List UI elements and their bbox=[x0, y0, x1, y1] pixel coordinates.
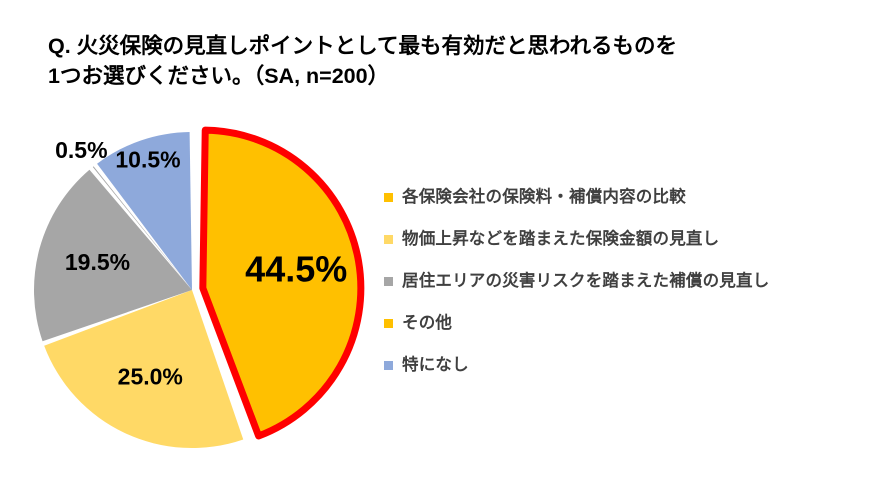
legend-item-label: 居住エリアの災害リスクを踏まえた補償の見直し bbox=[402, 273, 769, 290]
legend-color-swatch bbox=[384, 235, 393, 244]
legend-item[interactable]: 特になし bbox=[384, 344, 880, 386]
legend-color-swatch bbox=[384, 319, 393, 328]
legend-color-swatch bbox=[384, 361, 393, 370]
legend-item-label: その他 bbox=[402, 315, 452, 332]
legend-color-swatch bbox=[384, 277, 393, 286]
title-line-2: 1つお選びください。（SA, n=200） bbox=[48, 62, 838, 92]
legend-color-swatch bbox=[384, 193, 393, 202]
chart-legend: 各保険会社の保険料・補償内容の比較物価上昇などを踏まえた保険金額の見直し居住エリ… bbox=[384, 176, 880, 386]
pie-chart: 44.5%25.0%19.5%0.5%10.5% bbox=[14, 104, 386, 474]
pie-slice-label: 0.5% bbox=[55, 137, 107, 163]
pie-slice-label: 25.0% bbox=[118, 364, 183, 390]
page-title: Q. 火災保険の見直しポイントとして最も有効だと思われるものを 1つお選びくださ… bbox=[48, 32, 838, 91]
legend-item-label: 特になし bbox=[402, 357, 469, 374]
legend-item[interactable]: 各保険会社の保険料・補償内容の比較 bbox=[384, 176, 880, 218]
legend-item[interactable]: 居住エリアの災害リスクを踏まえた補償の見直し bbox=[384, 260, 880, 302]
legend-item-label: 各保険会社の保険料・補償内容の比較 bbox=[402, 189, 686, 206]
slide-canvas: Q. 火災保険の見直しポイントとして最も有効だと思われるものを 1つお選びくださ… bbox=[0, 0, 880, 482]
pie-slice-label: 44.5% bbox=[245, 248, 347, 289]
title-line-1: Q. 火災保険の見直しポイントとして最も有効だと思われるものを bbox=[48, 32, 838, 62]
pie-chart-svg: 44.5%25.0%19.5%0.5%10.5% bbox=[14, 104, 386, 474]
legend-item-label: 物価上昇などを踏まえた保険金額の見直し bbox=[402, 231, 719, 248]
pie-slice-label: 19.5% bbox=[65, 249, 130, 275]
legend-item[interactable]: その他 bbox=[384, 302, 880, 344]
pie-slice-label: 10.5% bbox=[115, 147, 180, 173]
legend-item[interactable]: 物価上昇などを踏まえた保険金額の見直し bbox=[384, 218, 880, 260]
